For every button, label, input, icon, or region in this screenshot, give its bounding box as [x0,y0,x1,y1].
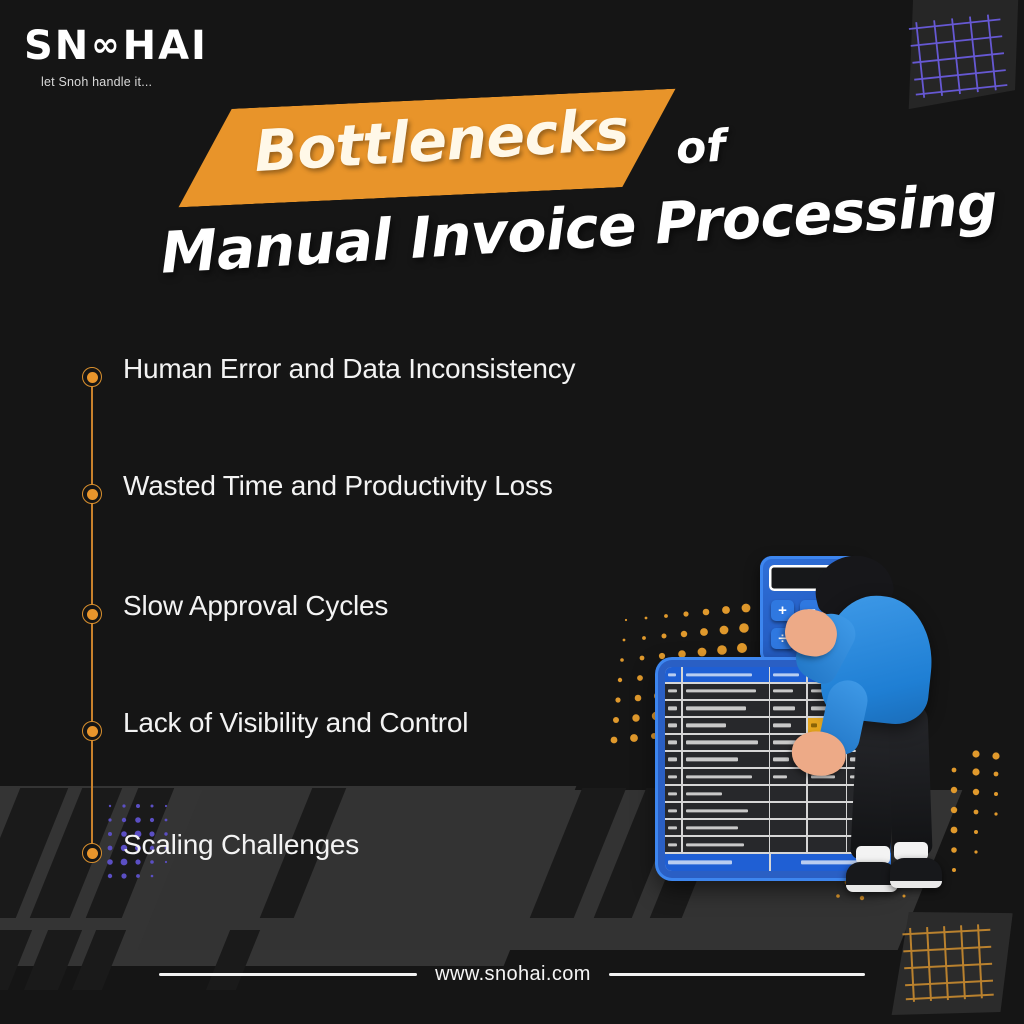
purple-grid-icon [906,11,1010,101]
bullet-label: Slow Approval Cycles [123,590,388,622]
list-item[interactable]: Slow Approval Cycles [0,604,640,644]
poster-canvas: SN ∞ HAI let Snoh handle it... Bottlenec… [0,0,1024,1024]
table-cell [665,667,681,682]
table-cell [665,769,681,785]
table-cell [683,837,769,853]
table-cell [665,837,681,853]
timeline-dot-icon [82,484,102,504]
invoice-illustration: + − ÷ × [600,540,1024,920]
table-cell [683,786,769,802]
timeline-dot-icon [82,604,102,624]
table-cell [665,735,681,751]
table-cell [665,820,681,836]
list-item[interactable]: Human Error and Data Inconsistency [0,367,640,407]
table-cell [665,803,681,819]
table-cell [665,854,769,871]
bullet-label: Wasted Time and Productivity Loss [123,470,553,502]
footer-rule-left [159,973,417,976]
footer-rule-right [609,973,865,976]
footer-website-url[interactable]: www.snohai.com [435,963,591,986]
timeline-dot-icon [82,843,102,863]
bullet-label: Scaling Challenges [123,829,359,861]
table-cell [683,752,769,768]
table-cell [683,735,769,751]
list-item[interactable]: Wasted Time and Productivity Loss [0,484,640,524]
table-cell [683,803,769,819]
frustrated-worker-character [798,550,998,906]
bullet-label: Lack of Visibility and Control [123,707,468,739]
character-hand-right [790,730,847,778]
table-cell [683,769,769,785]
footer-bar: www.snohai.com [0,952,1024,996]
table-cell [665,684,681,700]
table-cell [665,786,681,802]
table-cell [665,701,681,717]
timeline-dot-icon [82,721,102,741]
table-cell [665,718,681,734]
character-leg [887,703,932,856]
table-cell [665,752,681,768]
list-item[interactable]: Lack of Visibility and Control [0,721,640,761]
bullet-timeline: Human Error and Data Inconsistency Waste… [0,0,660,1024]
table-cell [683,718,769,734]
table-cell [683,667,769,682]
character-shoe [890,858,942,888]
list-item[interactable]: Scaling Challenges [0,843,640,883]
timeline-dot-icon [82,367,102,387]
bullet-label: Human Error and Data Inconsistency [123,353,575,385]
headline-connector: of [675,121,727,175]
table-cell [683,701,769,717]
table-cell [683,684,769,700]
table-cell [683,820,769,836]
